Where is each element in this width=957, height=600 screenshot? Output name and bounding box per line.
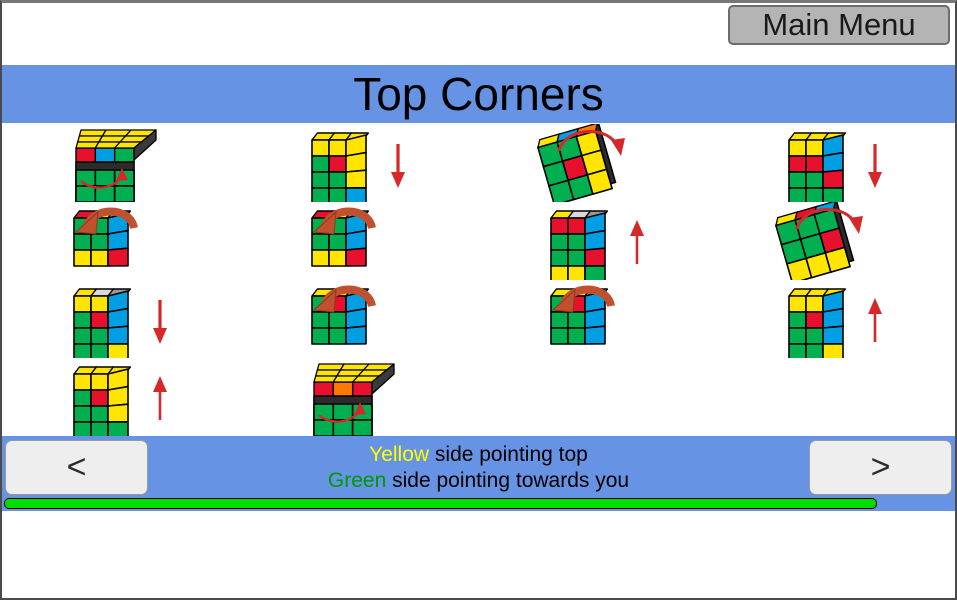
- rotation-arrow-icon: [391, 144, 405, 188]
- chevron-right-icon: >: [871, 448, 891, 487]
- page-title-banner: Top Corners: [2, 65, 955, 123]
- app-window: Main Menu Top Corners < Yellow side poin…: [0, 0, 957, 600]
- cube-diagram: [294, 280, 424, 358]
- cube-diagram: [294, 358, 424, 436]
- cube-diagram: [771, 124, 901, 202]
- cube-diagram: [294, 202, 424, 280]
- cube-diagram: [533, 280, 663, 358]
- instruction-line-1: Yellow side pointing top: [152, 442, 805, 468]
- step-cube-step-3: [479, 124, 717, 202]
- rotation-arrow-icon: [153, 376, 167, 420]
- steps-area: [2, 124, 955, 436]
- step-cube-step-1: [2, 124, 240, 202]
- step-cube-step-4: [717, 124, 955, 202]
- cube-diagram: [294, 124, 424, 202]
- step-cube-step-7: [479, 202, 717, 280]
- instruction-text: Yellow side pointing top Green side poin…: [152, 442, 805, 494]
- step-cube-step-12: [717, 280, 955, 358]
- cube-diagram: [533, 124, 663, 202]
- instruction-line-2: Green side pointing towards you: [152, 468, 805, 494]
- next-button[interactable]: >: [809, 440, 952, 495]
- step-cube-step-6: [240, 202, 478, 280]
- progress-bar-track[interactable]: [2, 496, 955, 511]
- step-cube-step-13: [2, 358, 240, 436]
- cube-diagram: [771, 202, 901, 280]
- cube-diagram: [56, 202, 186, 280]
- cube-diagram: [533, 202, 663, 280]
- previous-button[interactable]: <: [5, 440, 148, 495]
- step-cube-step-11: [479, 280, 717, 358]
- rotation-arrow-icon: [630, 220, 644, 264]
- instruction-keyword-green: Green: [328, 469, 386, 492]
- instruction-line-2-rest: side pointing towards you: [386, 469, 629, 492]
- main-menu-label: Main Menu: [762, 7, 915, 43]
- step-cube-step-14: [240, 358, 478, 436]
- rotation-arrow-icon: [868, 298, 882, 342]
- step-cube-step-10: [240, 280, 478, 358]
- progress-bar-fill: [4, 498, 877, 509]
- footer-blank-area: [2, 511, 955, 599]
- instruction-keyword-yellow: Yellow: [369, 443, 429, 466]
- cube-diagram: [56, 358, 186, 436]
- main-menu-button[interactable]: Main Menu: [728, 5, 950, 45]
- rotation-arrow-icon: [153, 300, 167, 344]
- instruction-bar: < Yellow side pointing top Green side po…: [2, 436, 955, 498]
- rotation-arrow-icon: [868, 144, 882, 188]
- step-cube-step-8: [717, 202, 955, 280]
- instruction-line-1-rest: side pointing top: [429, 443, 588, 466]
- cube-diagram: [56, 280, 186, 358]
- cube-diagram: [771, 280, 901, 358]
- top-bar: Main Menu: [2, 3, 955, 51]
- step-cube-step-9: [2, 280, 240, 358]
- cube-diagram: [56, 124, 186, 202]
- step-cube-step-2: [240, 124, 478, 202]
- step-cube-step-5: [2, 202, 240, 280]
- page-title: Top Corners: [353, 71, 604, 117]
- chevron-left-icon: <: [67, 448, 87, 487]
- steps-grid: [2, 124, 955, 436]
